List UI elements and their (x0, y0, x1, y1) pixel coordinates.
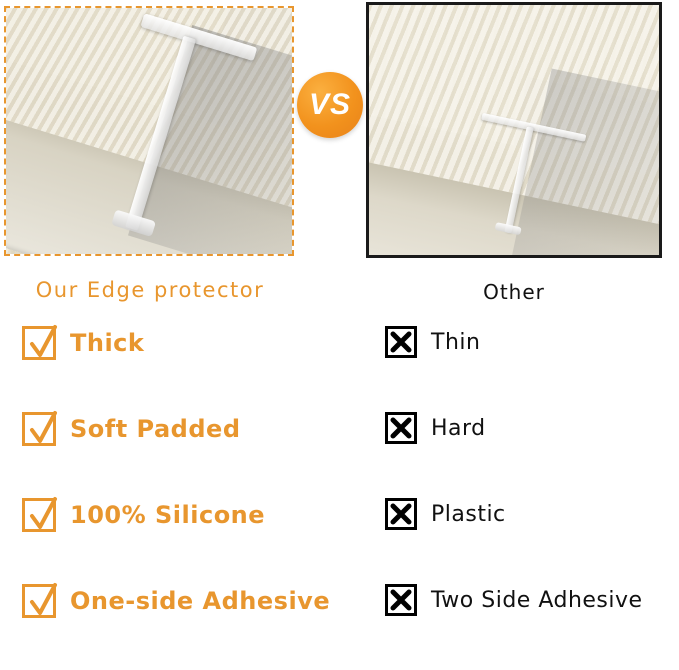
protector-foot (495, 222, 522, 235)
checkmark-icon (22, 326, 56, 360)
checkmark-icon (22, 584, 56, 618)
feature-label: 100% Silicone (70, 501, 265, 529)
feature-positive-thick: Thick (22, 326, 144, 360)
feature-negative-plastic: Plastic (385, 498, 506, 530)
feature-row: Thick Thin (0, 326, 679, 412)
cross-icon (385, 412, 417, 444)
other-product-photo (366, 2, 662, 258)
vs-label: VS (309, 88, 351, 122)
feature-label: Thin (431, 330, 480, 355)
feature-label: Soft Padded (70, 415, 241, 443)
cross-icon (385, 326, 417, 358)
feature-comparison-list: Thick Thin Soft Padded Hard 10 (0, 320, 679, 670)
feature-label: Thick (70, 329, 144, 357)
photo-captions: Our Edge protector Other (0, 262, 679, 320)
feature-positive-soft-padded: Soft Padded (22, 412, 241, 446)
cross-icon (385, 584, 417, 616)
feature-label: Hard (431, 416, 486, 441)
caption-other-product: Other (366, 280, 662, 304)
feature-negative-hard: Hard (385, 412, 486, 444)
protector-stem (125, 36, 196, 231)
feature-negative-two-side-adhesive: Two Side Adhesive (385, 584, 643, 616)
checkmark-icon (22, 412, 56, 446)
feature-label: One-side Adhesive (70, 587, 330, 615)
protector-stem (504, 126, 533, 233)
feature-row: 100% Silicone Plastic (0, 498, 679, 584)
comparison-images: VS (0, 0, 679, 262)
feature-positive-one-side-adhesive: One-side Adhesive (22, 584, 330, 618)
feature-label: Plastic (431, 502, 506, 527)
vs-badge: VS (297, 72, 363, 138)
caption-our-product: Our Edge protector (0, 278, 300, 302)
feature-positive-silicone: 100% Silicone (22, 498, 265, 532)
checkmark-icon (22, 498, 56, 532)
feature-row: One-side Adhesive Two Side Adhesive (0, 584, 679, 670)
feature-row: Soft Padded Hard (0, 412, 679, 498)
feature-label: Two Side Adhesive (431, 588, 643, 613)
cross-icon (385, 498, 417, 530)
feature-negative-thin: Thin (385, 326, 480, 358)
our-product-photo (4, 6, 294, 256)
